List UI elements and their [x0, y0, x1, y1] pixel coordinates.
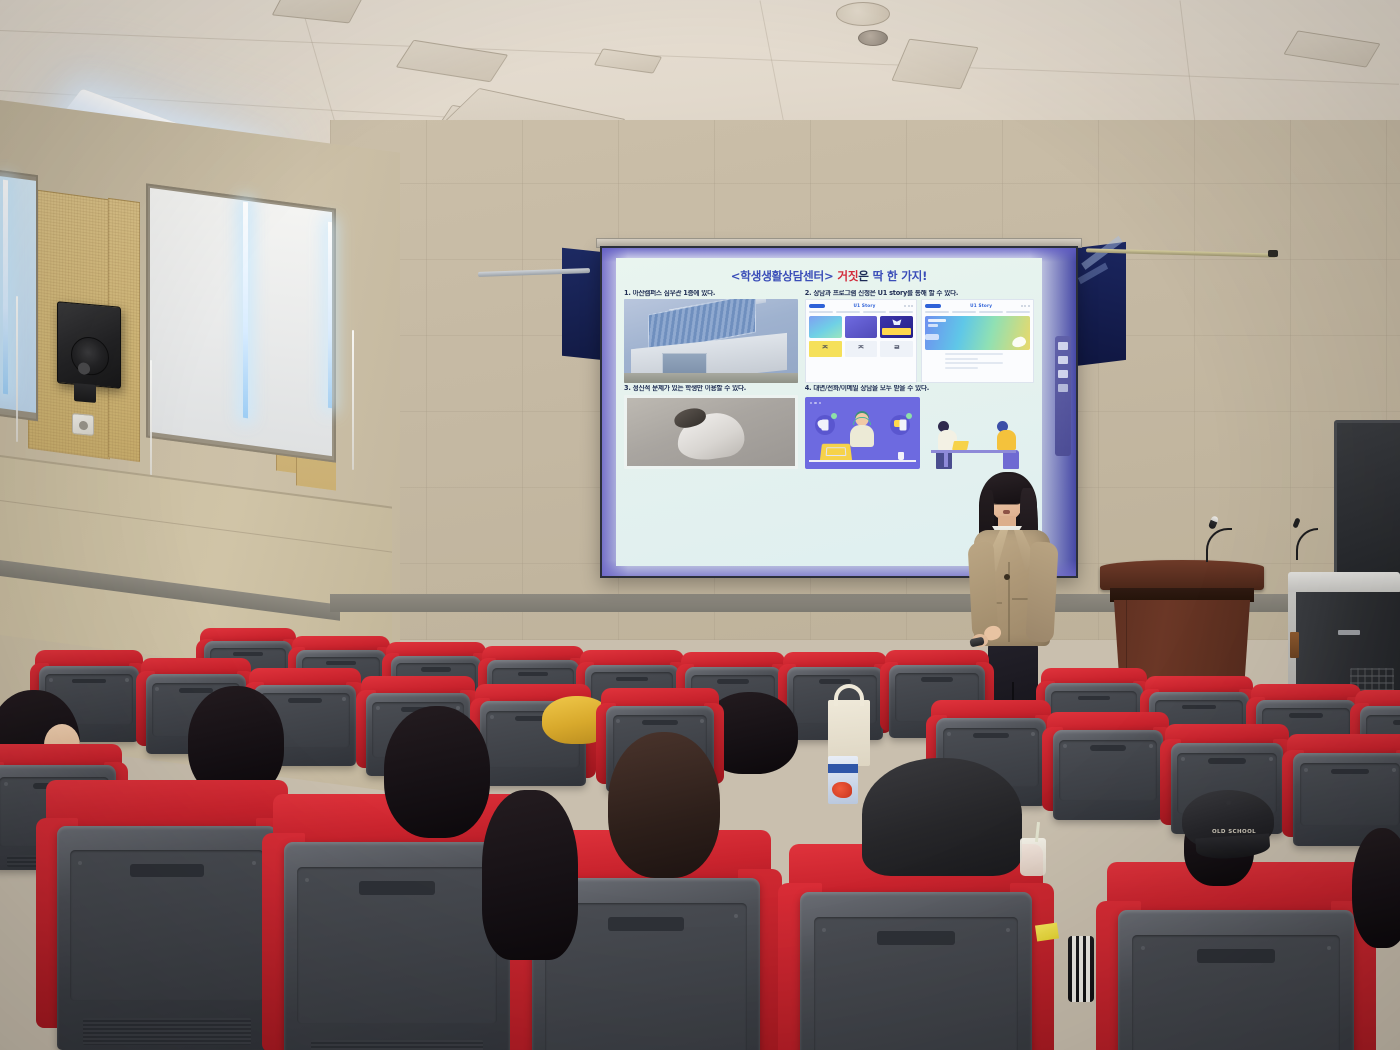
app-tile: ᄌ	[809, 341, 842, 357]
lecture-hall-photo: <학생생활상담센터> 거짓은 딱 한 가지! 1. 아산캠퍼스 심우관 1층에 …	[0, 0, 1400, 1050]
presenter-mouth	[1003, 510, 1010, 514]
app-brand-label: U1 Story	[970, 303, 992, 308]
counselor-figure	[997, 421, 1016, 450]
app-dots-icon	[904, 305, 913, 307]
back-arrow-icon	[1058, 342, 1068, 350]
wall-speaker	[57, 301, 121, 389]
speaker-mount-bracket	[74, 383, 96, 403]
lectern-top	[1100, 560, 1264, 590]
speaker-tweeter-icon	[78, 362, 90, 375]
slide-item-2: 2. 상담과 프로그램 신청은 U1 story를 통해 할 수 있다. U1 …	[805, 290, 1034, 384]
online-counseling-illustration	[805, 397, 920, 469]
phone-icon	[821, 419, 828, 430]
app-screenshot-detail: U1 Story	[921, 299, 1034, 383]
slide-item-3: 3. 정신적 문제가 있는 학생만 이용할 수 있다.	[624, 385, 798, 469]
close-icon	[1058, 384, 1068, 392]
building-ground	[624, 373, 798, 383]
window-light-gap	[243, 202, 248, 419]
slide-title: <학생생활상담센터> 거짓은 딱 한 가지!	[624, 270, 1034, 283]
slide-item-3-caption: 3. 정신적 문제가 있는 학생만 이용할 수 있다.	[624, 385, 798, 393]
app-card-gradient	[809, 316, 842, 338]
ceiling-speaker-grille	[836, 2, 890, 26]
auditorium-seat	[1042, 712, 1174, 820]
distressed-student-photo	[624, 395, 798, 469]
app-dots-icon	[1021, 305, 1030, 307]
app-card-gradient	[845, 316, 878, 338]
blind-pull-cord	[352, 330, 354, 470]
tote-handle	[834, 684, 864, 706]
av-cart-ports	[1290, 632, 1299, 658]
student-head	[384, 706, 490, 838]
slide-title-rest1: 은	[858, 269, 868, 283]
drink-cup	[1020, 838, 1046, 876]
phone-bubble-icon	[815, 415, 835, 435]
app-screenshot-row: U1 Story	[805, 299, 1034, 383]
jacket-button	[1004, 574, 1010, 580]
screen-side-panel	[1076, 242, 1126, 366]
chat-bubble-icon	[890, 415, 910, 435]
ceiling-vent	[1283, 30, 1380, 67]
bird-illustration-icon	[1011, 336, 1027, 349]
slide-item-1: 1. 아산캠퍼스 심우관 1층에 있다.	[624, 290, 798, 384]
ceiling-vent	[891, 39, 978, 90]
app-navbar	[809, 311, 914, 313]
check-badge-icon	[906, 413, 912, 419]
lectern-neck	[1110, 588, 1254, 602]
cup-icon	[898, 452, 904, 460]
headset-icon	[853, 417, 871, 425]
pen-tool-icon	[1058, 370, 1068, 378]
poster-band	[882, 328, 911, 335]
desk-surface	[809, 460, 916, 462]
student-head	[1352, 828, 1400, 948]
package-band	[828, 764, 858, 773]
auditorium-seat	[1096, 862, 1376, 1050]
counseling-illustration-row	[805, 395, 1034, 469]
slide-item-1-caption: 1. 아산캠퍼스 심우관 1층에 있다.	[624, 290, 798, 298]
baseball-cap: OLD SCHOOL	[1182, 790, 1274, 850]
app-tile: ᄅ	[880, 341, 913, 357]
app-card-row	[809, 316, 914, 338]
ceiling-access-panel	[594, 48, 662, 73]
sticky-note	[1035, 923, 1059, 942]
slide-item-2-caption: 2. 상담과 프로그램 신청은 U1 story를 통해 할 수 있다.	[805, 290, 1034, 298]
slide-item-4-caption: 4. 대면/전화/이메일 상담을 모두 받을 수 있다.	[805, 385, 1034, 393]
snack-package	[828, 756, 858, 804]
window-light-gap	[3, 180, 8, 395]
app-tile-row: ᄌ ᄌ ᄅ	[809, 341, 914, 357]
wall-outlet	[72, 413, 94, 436]
drinking-straw	[1035, 822, 1040, 842]
slide-title-rest2: 딱 한 가지!	[873, 269, 928, 283]
student-head	[608, 732, 720, 878]
ceiling-vent	[396, 40, 509, 83]
app-header: U1 Story	[925, 303, 1030, 308]
package-graphic	[832, 782, 852, 798]
cap-button	[1226, 800, 1231, 805]
app-menu-pill-icon	[925, 304, 941, 308]
app-card-poster	[880, 316, 913, 338]
auditorium-seat	[36, 780, 298, 1050]
in-person-counseling-illustration	[925, 397, 1034, 469]
app-brand-label: U1 Story	[853, 303, 875, 308]
hero-title-bar	[928, 319, 946, 322]
slide-title-bracket: <학생생활상담센터>	[731, 269, 834, 283]
ceiling-vent	[272, 0, 363, 23]
ceiling-speaker	[858, 30, 888, 46]
student-hoodie	[862, 758, 1022, 876]
color-swatch-icon	[1058, 356, 1068, 364]
laptop-screen	[825, 447, 846, 456]
crest-icon	[892, 319, 901, 325]
app-list	[945, 353, 1030, 369]
app-menu-pill-icon	[809, 304, 825, 308]
app-screenshot-home: U1 Story	[805, 299, 918, 383]
tile-glyph-icon: ᄌ	[822, 344, 828, 354]
building-entrance	[662, 353, 707, 375]
blind-pull-cord	[150, 360, 152, 478]
screen-side-panel	[562, 248, 602, 360]
figure-body	[997, 430, 1016, 450]
speaker-cone-icon	[71, 335, 109, 376]
tile-glyph-icon: ᄌ	[858, 344, 864, 354]
window-dots-icon	[810, 402, 822, 405]
cap-logo-text: OLD SCHOOL	[1216, 824, 1252, 840]
striped-sleeve	[1068, 936, 1094, 1002]
equipment-label	[1338, 630, 1360, 635]
building-photo	[624, 299, 798, 383]
app-tile: ᄌ	[845, 341, 878, 357]
curtain-rod-end	[1268, 250, 1278, 257]
tile-glyph-icon: ᄅ	[894, 344, 900, 354]
window-light-gap	[328, 222, 332, 409]
student-head	[482, 790, 578, 960]
phone-icon	[900, 419, 907, 430]
av-cart-top	[1288, 572, 1400, 594]
app-chip	[925, 334, 939, 340]
laptop-icon	[820, 444, 852, 461]
counselor-body	[850, 425, 874, 447]
app-navbar	[925, 311, 1030, 313]
slide-title-accent: 거짓	[837, 269, 858, 283]
presenter-arm	[1025, 541, 1058, 642]
presenter-arm	[968, 541, 999, 638]
projected-app-toolbar	[1055, 336, 1071, 456]
app-hero-banner	[925, 316, 1030, 350]
check-badge-icon	[831, 413, 837, 419]
laptop-icon	[952, 441, 969, 450]
window-blind	[150, 188, 332, 456]
app-header: U1 Story	[809, 303, 914, 308]
hero-subtitle-bar	[928, 324, 938, 327]
slide-content-grid: 1. 아산캠퍼스 심우관 1층에 있다. 2. 상담과 프로그램 신청은 U1 …	[624, 290, 1034, 469]
blind-pull-cord	[16, 296, 18, 442]
table-leg	[944, 451, 948, 467]
slide-item-4: 4. 대면/전화/이메일 상담을 모두 받을 수 있다.	[805, 385, 1034, 469]
